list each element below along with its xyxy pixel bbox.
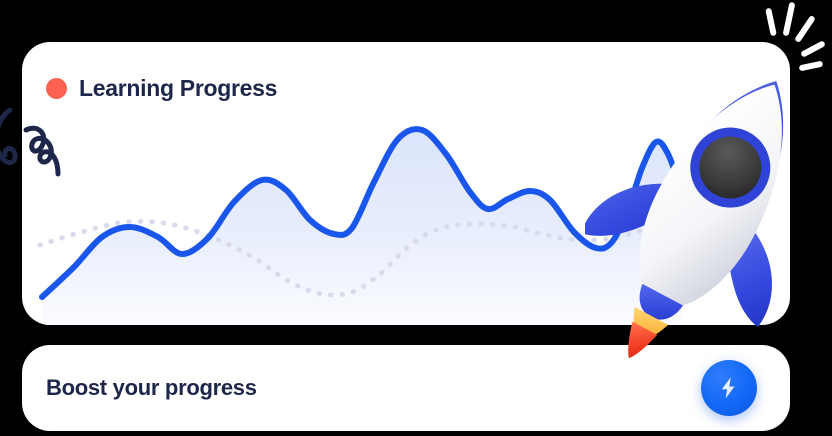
chart-end-marker[interactable] xyxy=(639,189,659,209)
boost-progress-label: Boost your progress xyxy=(46,375,257,401)
lightning-bolt-icon xyxy=(716,375,742,401)
page-title: Learning Progress xyxy=(79,75,277,102)
card-header: Learning Progress xyxy=(46,75,277,102)
status-dot xyxy=(46,78,67,99)
learning-progress-card: Learning Progress xyxy=(22,42,790,325)
boost-progress-card: Boost your progress xyxy=(22,345,790,431)
screenshot-canvas: Learning Progress Boost your progress xyxy=(0,0,832,436)
boost-action-button[interactable] xyxy=(701,360,757,416)
